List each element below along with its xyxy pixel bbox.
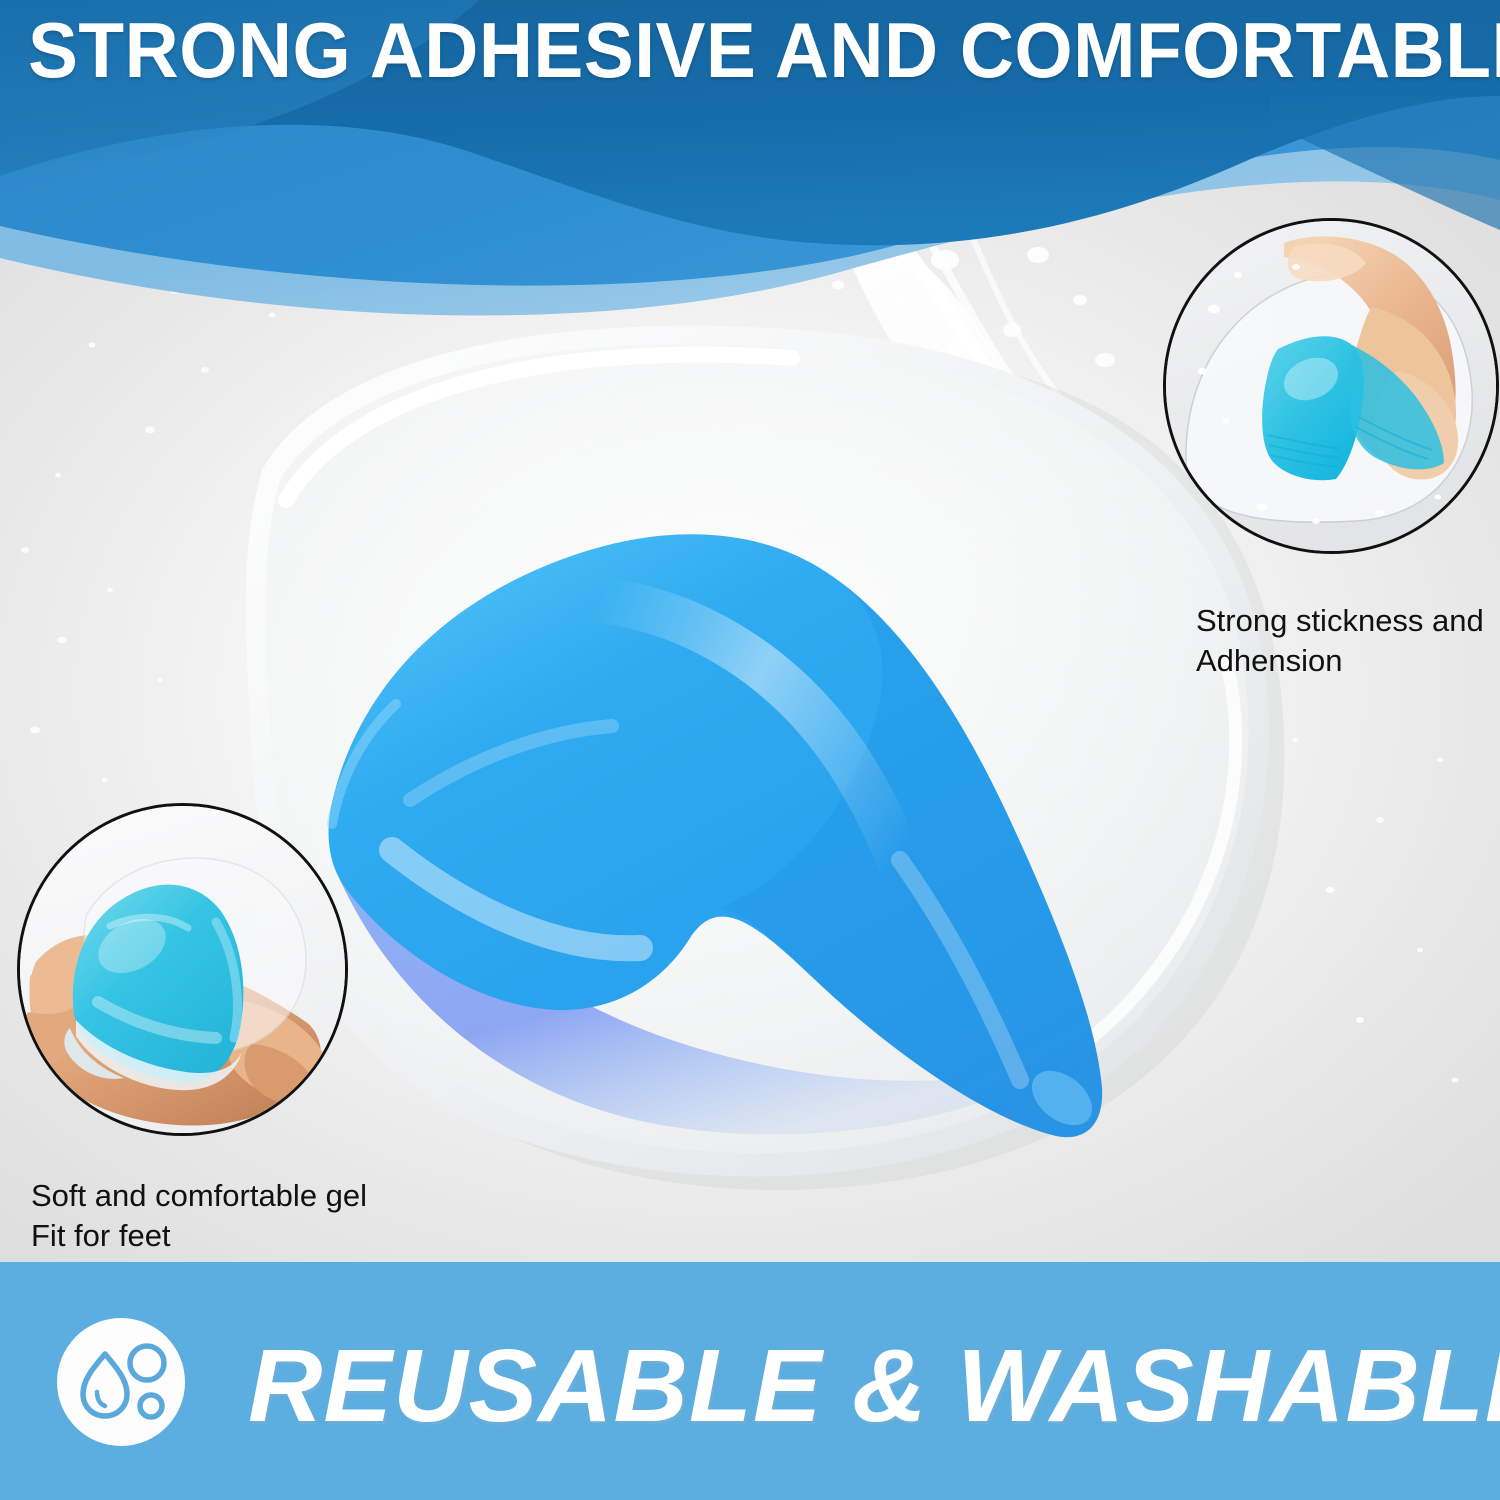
strong-stickness-caption: Strong stickness and Adhension: [1196, 601, 1496, 681]
soft-comfortable-caption: Soft and comfortable gel Fit for feet: [31, 1176, 451, 1256]
water-drop-icon: [57, 1318, 185, 1446]
banner-label: REUSABLE & WASHABLE: [248, 1330, 1478, 1442]
page-title: STRONG ADHESIVE AND COMFORTABLE: [28, 8, 1430, 92]
soft-comfortable-inset: [17, 803, 348, 1136]
water-drop-badge: [57, 1318, 185, 1446]
soft-comfortable-inset-photo: [20, 806, 345, 1133]
product-marketing-image: Strong stickness and Adhension: [0, 0, 1500, 1500]
